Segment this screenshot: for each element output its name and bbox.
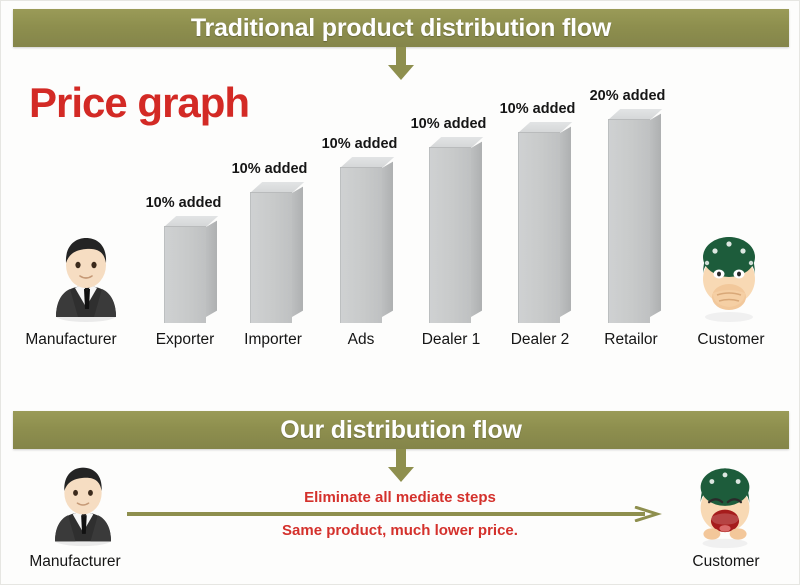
bar-ads: 10% added (340, 61, 382, 323)
bar-annotation: 10% added (411, 116, 487, 132)
axis-label-manufacturer: Manufacturer (11, 331, 131, 349)
arrow-down-icon (386, 449, 416, 483)
shocked-customer-avatar-icon (693, 227, 765, 328)
arrow-right-icon (127, 506, 667, 512)
bar-annotation: 10% added (322, 136, 398, 152)
bar-annotation: 10% added (146, 195, 222, 211)
our-flow-title: Our distribution flow (13, 411, 789, 449)
bar-importer: 10% added (250, 61, 292, 323)
traditional-flow-banner: Traditional product distribution flow (13, 9, 789, 47)
bar-exporter: 10% added (164, 61, 206, 323)
traditional-flow-title: Traditional product distribution flow (13, 9, 789, 47)
bottom-label-customer: Customer (666, 553, 786, 571)
bar-annotation: 10% added (500, 101, 576, 117)
happy-customer-avatar-icon (689, 459, 761, 554)
businessman-avatar-icon (48, 233, 124, 328)
flow-message-line-2: Same product, much lower price. (1, 522, 799, 539)
axis-label-customer: Customer (671, 331, 791, 349)
bottom-label-manufacturer: Manufacturer (15, 553, 135, 571)
bar-dealer-2: 10% added (518, 61, 560, 323)
bar-dealer-1: 10% added (429, 61, 471, 323)
bar-annotation: 20% added (590, 88, 666, 104)
infographic-page: Traditional product distribution flow Pr… (0, 0, 800, 585)
bar-annotation: 10% added (232, 161, 308, 177)
bar-retailor: 20% added (608, 61, 650, 323)
our-flow-banner: Our distribution flow (13, 411, 789, 449)
price-bar-chart: 10% added 10% added 10% added (1, 61, 800, 323)
flow-message-line-1: Eliminate all mediate steps (1, 489, 799, 506)
